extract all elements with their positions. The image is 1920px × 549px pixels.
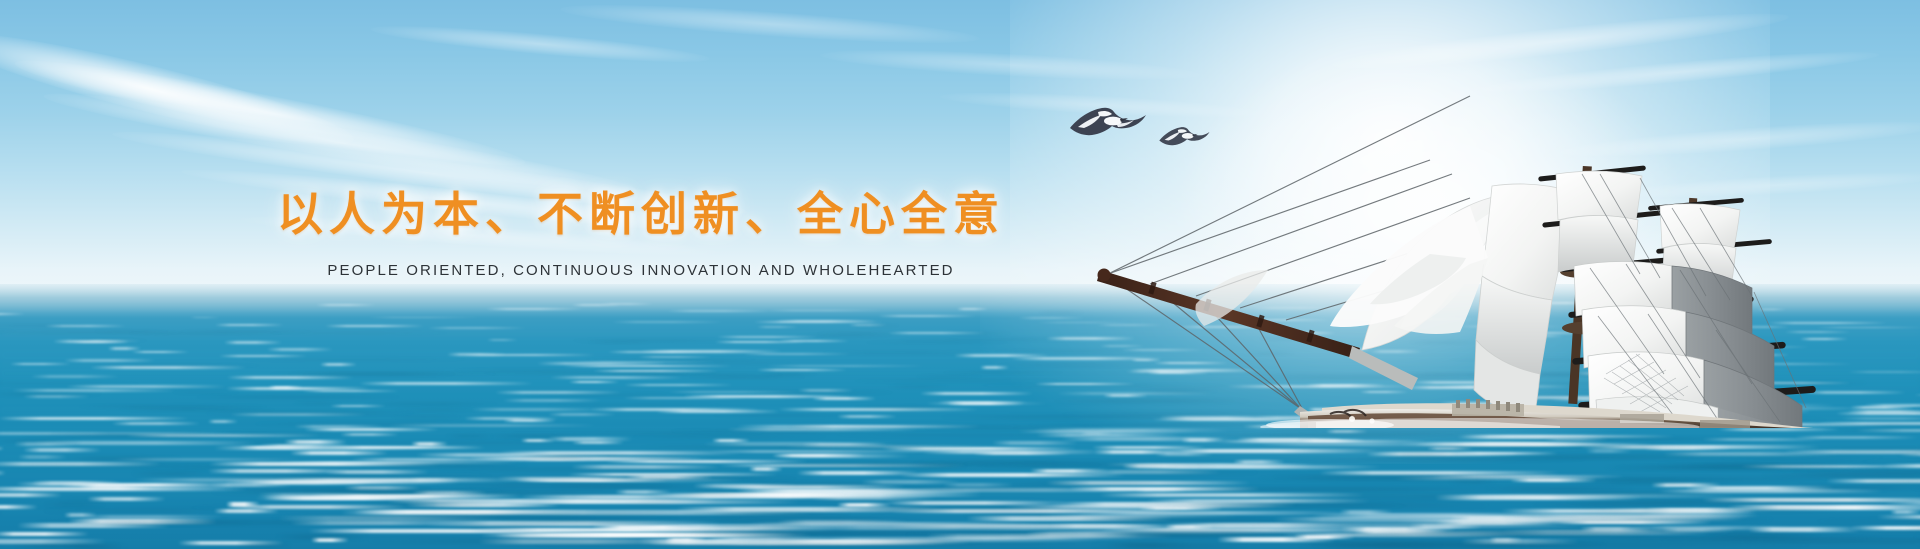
seagull-small-icon [1159,127,1209,145]
banner-headline: 以人为本、不断创新、全心全意 [0,186,1282,244]
ocean-background [0,284,1920,549]
seagull-large-icon [1070,108,1146,135]
banner-copy: 以人为本、不断创新、全心全意 PEOPLE ORIENTED, CONTINUO… [0,186,1282,279]
hero-banner: 以人为本、不断创新、全心全意 PEOPLE ORIENTED, CONTINUO… [0,0,1920,549]
banner-subheadline: PEOPLE ORIENTED, CONTINUOUS INNOVATION A… [0,262,1282,279]
seagulls-group [1060,100,1260,170]
